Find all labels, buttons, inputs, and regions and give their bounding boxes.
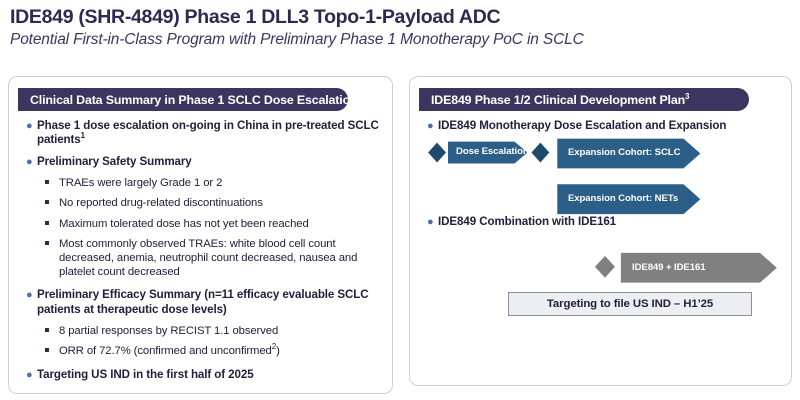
page-title: IDE849 (SHR-4849) Phase 1 DLL3 Topo-1-Pa… <box>10 6 790 28</box>
ind-filing-box: Targeting to file US IND – H1’25 <box>508 292 752 316</box>
list-item: ● Phase 1 dose escalation on-going in Ch… <box>23 119 383 148</box>
bullet-dot-icon: ● <box>424 119 438 133</box>
clinical-development-plan-panel: IDE849 Phase 1/2 Clinical Development Pl… <box>409 76 792 386</box>
bullet-text: Preliminary Safety Summary <box>37 155 192 169</box>
list-item: ● Targeting US IND in the first half of … <box>23 368 383 382</box>
arrow-label-ide849-ide161: IDE849 + IDE161 <box>632 262 705 273</box>
bullet-text: Maximum tolerated dose has not yet been … <box>59 217 309 231</box>
list-item: ● IDE849 Combination with IDE161 <box>424 215 784 229</box>
left-panel-header: Clinical Data Summary in Phase 1 SCLC Do… <box>18 88 348 111</box>
list-item: Most commonly observed TRAEs: white bloo… <box>45 237 383 280</box>
bullet-dot-icon: ● <box>23 368 37 382</box>
bullet-text: No reported drug-related discontinuation… <box>59 196 263 210</box>
bullet-square-icon <box>45 217 59 225</box>
list-item: 8 partial responses by RECIST 1.1 observ… <box>45 324 383 338</box>
arrow-label-dose-escalation: Dose Escalation <box>456 146 529 157</box>
milestone-diamond-icon <box>428 143 446 163</box>
combination-section: ● IDE849 Combination with IDE161 <box>424 215 784 236</box>
list-item: Maximum tolerated dose has not yet been … <box>45 217 383 231</box>
bullet-square-icon <box>45 344 59 352</box>
right-panel-header: IDE849 Phase 1/2 Clinical Development Pl… <box>419 88 749 111</box>
list-item: ● IDE849 Monotherapy Dose Escalation and… <box>424 119 784 133</box>
bullet-square-icon <box>45 176 59 184</box>
monotherapy-section: ● IDE849 Monotherapy Dose Escalation and… <box>424 119 784 140</box>
bullet-text: Preliminary Efficacy Summary (n=11 effic… <box>37 288 383 317</box>
left-panel-header-label: Clinical Data Summary in Phase 1 SCLC Do… <box>30 93 357 107</box>
bullet-text: IDE849 Monotherapy Dose Escalation and E… <box>438 119 726 133</box>
page-subtitle: Potential First-in-Class Program with Pr… <box>10 31 790 50</box>
bullet-dot-icon: ● <box>23 155 37 169</box>
bullet-square-icon <box>45 237 59 245</box>
bullet-square-icon <box>45 324 59 332</box>
bullet-square-icon <box>45 196 59 204</box>
list-item: TRAEs were largely Grade 1 or 2 <box>45 176 383 190</box>
bullet-text: Most commonly observed TRAEs: white bloo… <box>59 237 383 280</box>
right-panel-header-label: IDE849 Phase 1/2 Clinical Development Pl… <box>431 93 689 107</box>
bullet-text: 8 partial responses by RECIST 1.1 observ… <box>59 324 278 338</box>
list-item: ORR of 72.7% (confirmed and unconfirmed2… <box>45 344 383 358</box>
bullet-dot-icon: ● <box>23 288 37 302</box>
milestone-diamond-icon <box>595 256 615 278</box>
bullet-text: TRAEs were largely Grade 1 or 2 <box>59 176 222 190</box>
left-panel-bullet-list: ● Phase 1 dose escalation on-going in Ch… <box>23 119 383 389</box>
bullet-text: ORR of 72.7% (confirmed and unconfirmed2… <box>59 344 280 358</box>
bullet-dot-icon: ● <box>424 215 438 229</box>
clinical-data-summary-panel: Clinical Data Summary in Phase 1 SCLC Do… <box>8 76 393 394</box>
bullet-text: IDE849 Combination with IDE161 <box>438 215 616 229</box>
bullet-dot-icon: ● <box>23 119 37 133</box>
list-item: No reported drug-related discontinuation… <box>45 196 383 210</box>
arrow-label-expansion-nets: Expansion Cohort: NETs <box>568 193 678 204</box>
safety-sub-list: TRAEs were largely Grade 1 or 2 No repor… <box>45 176 383 279</box>
list-item: ● Preliminary Safety Summary <box>23 155 383 169</box>
efficacy-sub-list: 8 partial responses by RECIST 1.1 observ… <box>45 324 383 358</box>
milestone-diamond-icon <box>531 143 549 163</box>
title-block: IDE849 (SHR-4849) Phase 1 DLL3 Topo-1-Pa… <box>10 6 790 50</box>
bullet-text: Phase 1 dose escalation on-going in Chin… <box>37 119 383 148</box>
list-item: ● Preliminary Efficacy Summary (n=11 eff… <box>23 288 383 317</box>
arrow-label-expansion-sclc: Expansion Cohort: SCLC <box>568 147 680 158</box>
bullet-text: Targeting US IND in the first half of 20… <box>37 368 254 382</box>
ind-filing-label: Targeting to file US IND – H1’25 <box>547 298 713 310</box>
